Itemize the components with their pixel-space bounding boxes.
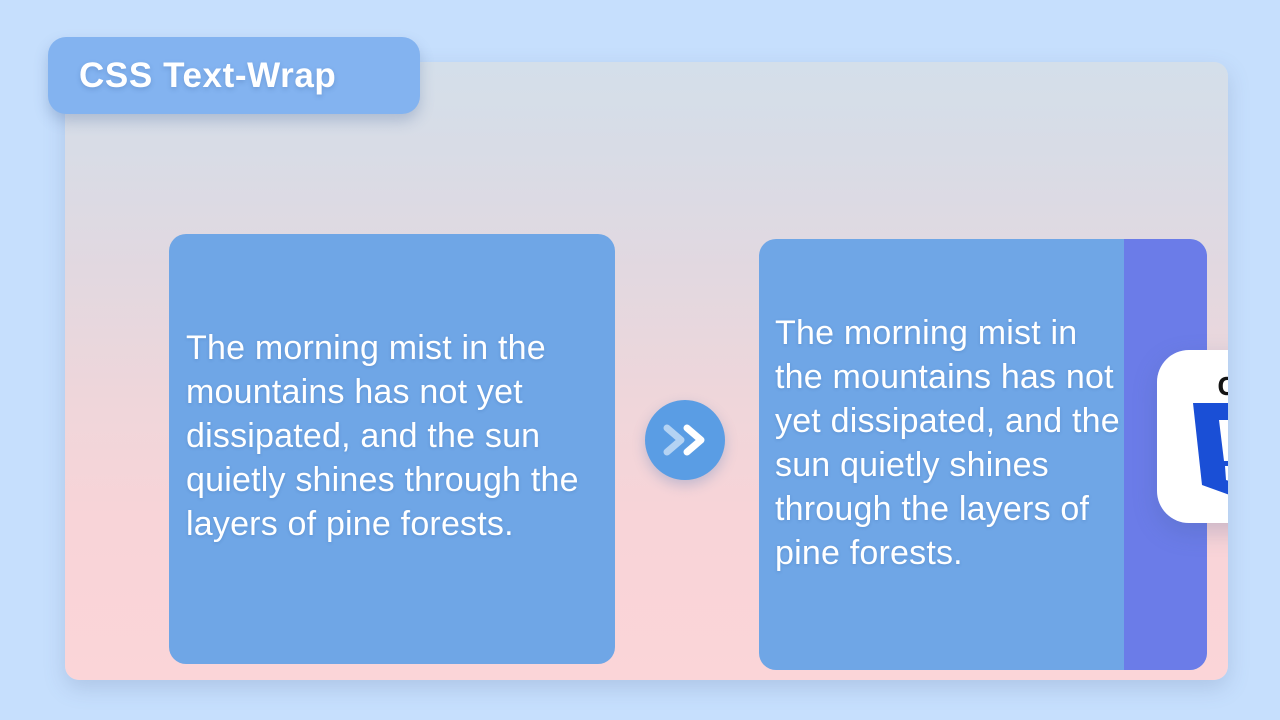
css-wordmark: CSS <box>1217 373 1228 401</box>
css3-logo-card: CSS <box>1157 350 1228 523</box>
panel-right-text: The morning mist in the mountains has no… <box>775 311 1123 575</box>
main-card: The morning mist in the mountains has no… <box>65 62 1228 680</box>
double-chevron-right-icon <box>662 423 708 457</box>
css3-shield-icon <box>1189 403 1229 508</box>
page-title: CSS Text-Wrap <box>79 56 336 96</box>
css3-logo: CSS <box>1187 373 1229 501</box>
transform-arrow-button[interactable] <box>645 400 725 480</box>
panel-left-text: The morning mist in the mountains has no… <box>186 326 606 546</box>
text-panel-left: The morning mist in the mountains has no… <box>169 234 615 664</box>
text-panel-right: The morning mist in the mountains has no… <box>759 239 1207 670</box>
title-badge: CSS Text-Wrap <box>48 37 420 114</box>
